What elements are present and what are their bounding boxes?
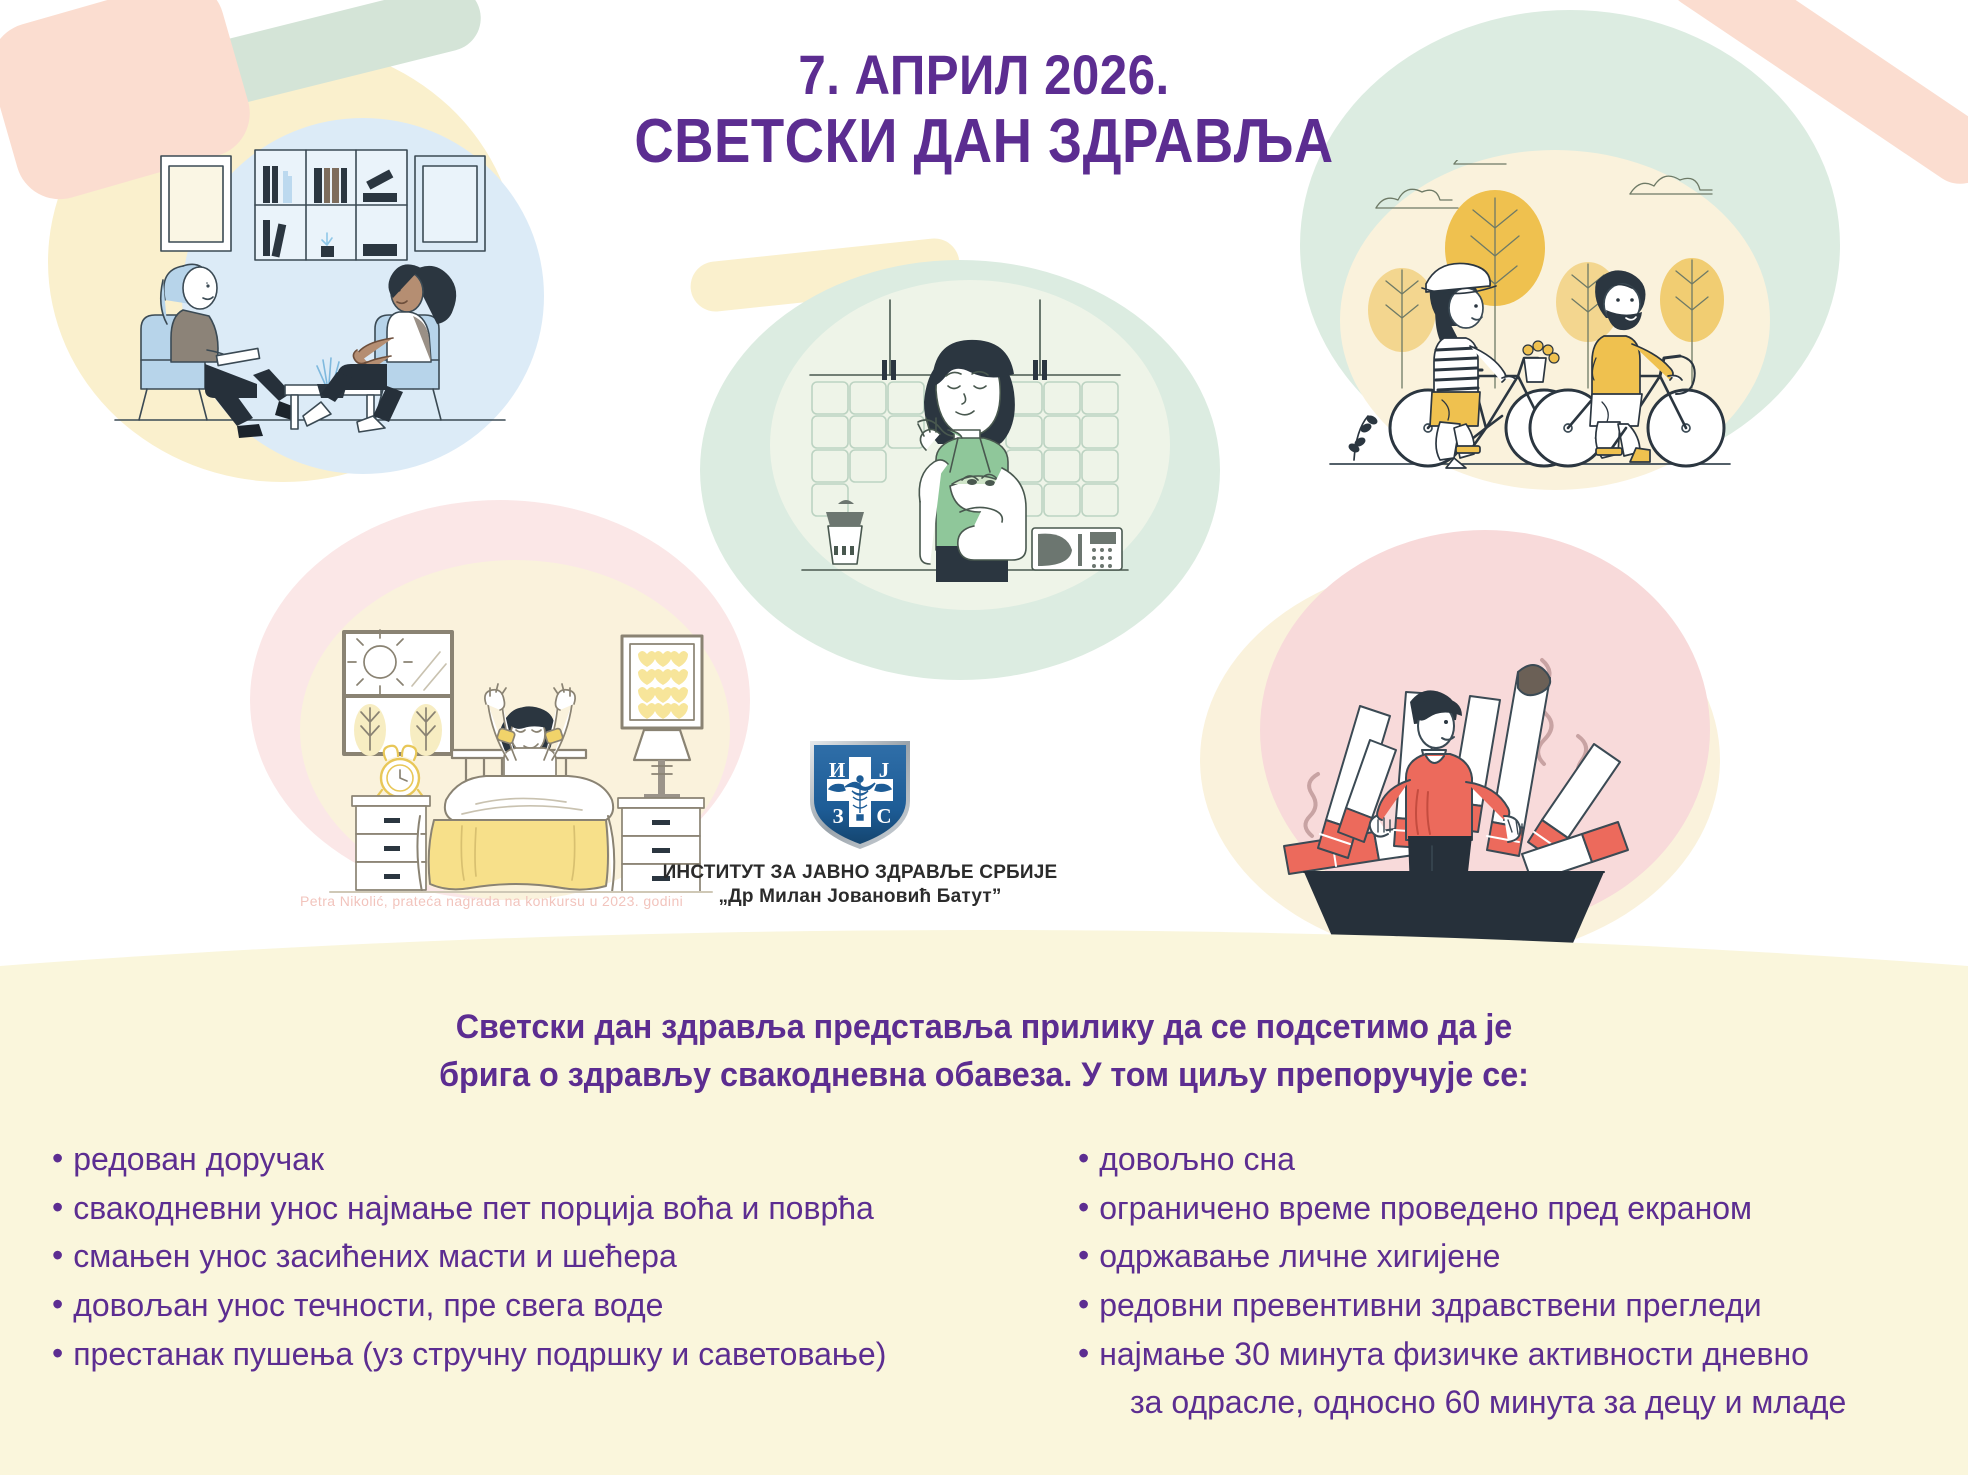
list-item: • свакодневни унос најмање пет порција в… — [52, 1184, 1060, 1233]
bullet-icon: • — [1078, 1232, 1089, 1278]
woman-eating-salad-illustration — [790, 290, 1140, 610]
list-item: • најмање 30 минута физичке активности д… — [1078, 1330, 1960, 1379]
list-item-label: довољно сна — [1099, 1135, 1295, 1184]
list-item-label: редован доручак — [73, 1135, 324, 1184]
scene-healthy-eating — [790, 290, 1140, 610]
list-item-label: најмање 30 минута физичке активности дне… — [1099, 1330, 1809, 1379]
bullet-icon: • — [52, 1330, 63, 1376]
svg-text:И: И — [829, 758, 845, 782]
poster-canvas: 7. АПРИЛ 2026. СВЕТСКИ ДАН ЗДРАВЉА — [0, 0, 1968, 1475]
list-item-label: редовни превентивни здравствени прегледи — [1099, 1281, 1761, 1330]
recommendations-columns: • редован доручак • свакодневни унос нај… — [0, 1135, 1968, 1427]
illustration-credit: Petra Nikolić, prateća nagrada na konkur… — [300, 893, 683, 909]
intro-line-2: брига о здрављу свакодневна обавеза. У т… — [49, 1051, 1919, 1099]
list-item: • довољно сна — [1078, 1135, 1960, 1184]
page-title: 7. АПРИЛ 2026. СВЕТСКИ ДАН ЗДРАВЉА — [0, 44, 1968, 176]
list-item-label: ограничено време проведено пред екраном — [1099, 1184, 1752, 1233]
bullet-icon: • — [1078, 1184, 1089, 1230]
scene-cycling — [1310, 160, 1740, 490]
bullet-icon: • — [1078, 1330, 1089, 1376]
list-item-label: престанак пушења (уз стручну подршку и с… — [73, 1330, 886, 1379]
list-item-label: смањен унос засићених масти и шећера — [73, 1232, 677, 1281]
list-item: • редован доручак — [52, 1135, 1060, 1184]
list-item: • смањен унос засићених масти и шећера — [52, 1232, 1060, 1281]
list-item-continuation: за одрасле, односно 60 минута за децу и … — [1078, 1378, 1960, 1427]
institute-name-sub: „Др Милан Јовановић Батут” — [640, 885, 1080, 910]
list-item: • одржавање личне хигијене — [1078, 1232, 1960, 1281]
svg-text:С: С — [876, 804, 891, 828]
list-item-label: довољан унос течности, пре свега воде — [73, 1281, 663, 1330]
list-item: • довољан унос течности, пре свега воде — [52, 1281, 1060, 1330]
list-item: • ограничено време проведено пред екрано… — [1078, 1184, 1960, 1233]
bullet-icon: • — [1078, 1281, 1089, 1327]
bullet-icon: • — [52, 1135, 63, 1181]
list-item-label: свакодневни унос најмање пет порција воћ… — [73, 1184, 874, 1233]
title-date: 7. АПРИЛ 2026. — [118, 44, 1850, 107]
institute-logo-block: И Ј З С ИНСТИТУТ ЗА ЈАВНО ЗДРАВЉЕ СРБИЈЕ… — [640, 735, 1080, 909]
bullet-icon: • — [52, 1184, 63, 1230]
list-item-label: одржавање личне хигијене — [1099, 1232, 1500, 1281]
bullet-icon: • — [52, 1281, 63, 1327]
recommendations-left-column: • редован доручак • свакодневни унос нај… — [0, 1135, 1060, 1378]
institute-name: ИНСТИТУТ ЗА ЈАВНО ЗДРАВЉЕ СРБИЈЕ — [640, 861, 1080, 885]
recommendations-right-column: • довољно сна • ограничено време проведе… — [1060, 1135, 1960, 1427]
svg-text:З: З — [832, 804, 843, 828]
title-main: СВЕТСКИ ДАН ЗДРАВЉА — [118, 107, 1850, 176]
intro-text: Светски дан здравља представља прилику д… — [0, 1003, 1968, 1100]
couple-cycling-park-illustration — [1310, 160, 1740, 490]
svg-text:Ј: Ј — [879, 758, 890, 782]
intro-line-1: Светски дан здравља представља прилику д… — [49, 1003, 1919, 1051]
bullet-icon: • — [52, 1232, 63, 1278]
list-item: • престанак пушења (уз стручну подршку и… — [52, 1330, 1060, 1379]
man-escaping-cigarettes-illustration — [1270, 640, 1690, 960]
caduceus-shield-icon: И Ј З С — [805, 735, 915, 853]
bullet-icon: • — [1078, 1135, 1089, 1181]
list-item: • редовни превентивни здравствени прегле… — [1078, 1281, 1960, 1330]
scene-quit-smoking — [1270, 640, 1690, 960]
